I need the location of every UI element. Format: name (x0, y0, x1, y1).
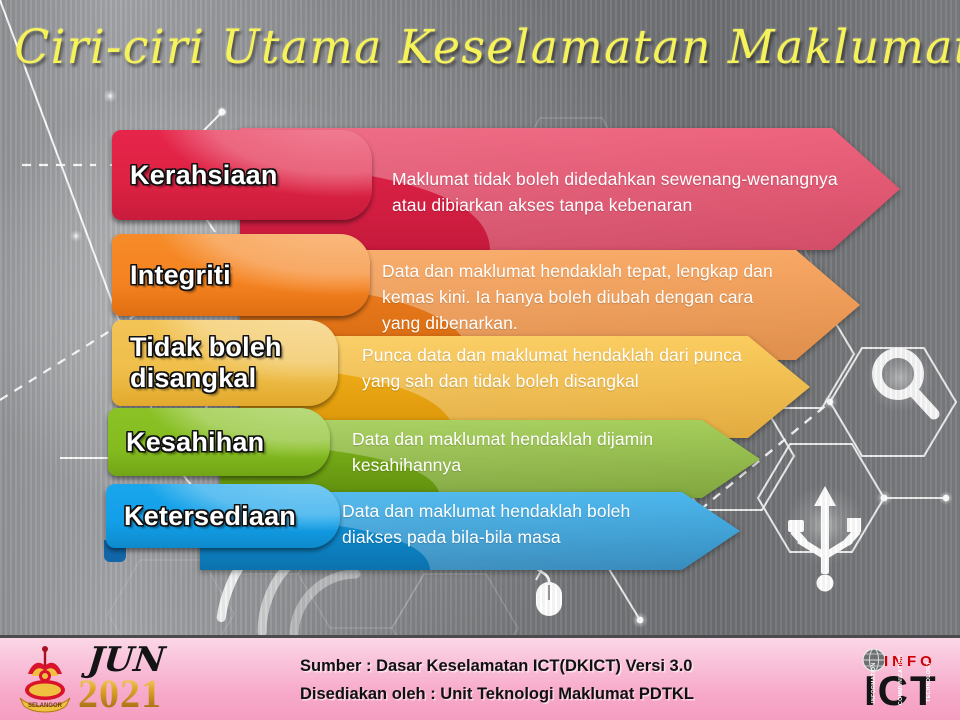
label-tidak-boleh-disangkal: Tidak boleh disangkal (130, 332, 324, 394)
slide-canvas: Ciri-ciri Utama Keselamatan Maklumat Mak… (0, 0, 960, 720)
label-pill-kesahihan[interactable]: Kesahihan (108, 408, 330, 476)
page-title: Ciri-ciri Utama Keselamatan Maklumat (14, 20, 945, 75)
logo-word-communication: COMMUNICATION (898, 655, 904, 705)
footer-bar: SELANGOR 2021 2021 JUN Sumber : Dasar Ke… (0, 635, 960, 720)
label-pill-tidak-boleh-disangkal[interactable]: Tidak boleh disangkal (112, 320, 338, 406)
label-ketersediaan: Ketersediaan (124, 501, 326, 531)
description-integriti: Data dan maklumat hendaklah tepat, lengk… (382, 258, 782, 336)
logo-word-information: INFORMATION (871, 662, 877, 703)
selangor-crest-logo: SELANGOR (14, 646, 76, 714)
magnifier-icon (866, 344, 934, 414)
label-pill-kerahsiaan[interactable]: Kerahsiaan (112, 130, 372, 220)
description-kerahsiaan: Maklumat tidak boleh didedahkan sewenang… (392, 166, 852, 218)
label-integriti: Integriti (130, 260, 356, 290)
label-kesahihan: Kesahihan (126, 427, 316, 457)
usb-icon (785, 485, 865, 592)
logo-word-technology: TECHNOLOGY (926, 661, 932, 702)
description-tidak-boleh-disangkal: Punca data dan maklumat hendaklah dari p… (362, 342, 742, 394)
description-kesahihan: Data dan maklumat hendaklah dijamin kesa… (352, 426, 692, 478)
label-pill-ketersediaan[interactable]: Ketersediaan (106, 484, 340, 548)
footer-source-line: Sumber : Dasar Keselamatan ICT(DKICT) Ve… (300, 652, 770, 680)
footer-credits: Sumber : Dasar Keselamatan ICT(DKICT) Ve… (300, 652, 770, 708)
footer-month: JUN (86, 640, 167, 680)
description-ketersediaan: Data dan maklumat hendaklah boleh diakse… (342, 498, 692, 550)
label-kerahsiaan: Kerahsiaan (130, 160, 358, 190)
crest-banner-text: SELANGOR (28, 703, 63, 709)
label-pill-integriti[interactable]: Integriti (112, 234, 370, 316)
footer-prepared-by-line: Disediakan oleh : Unit Teknologi Makluma… (300, 680, 770, 708)
info-ict-logo: INFO ICT INFORMATION COMMUNICATION TECHN… (860, 647, 952, 711)
